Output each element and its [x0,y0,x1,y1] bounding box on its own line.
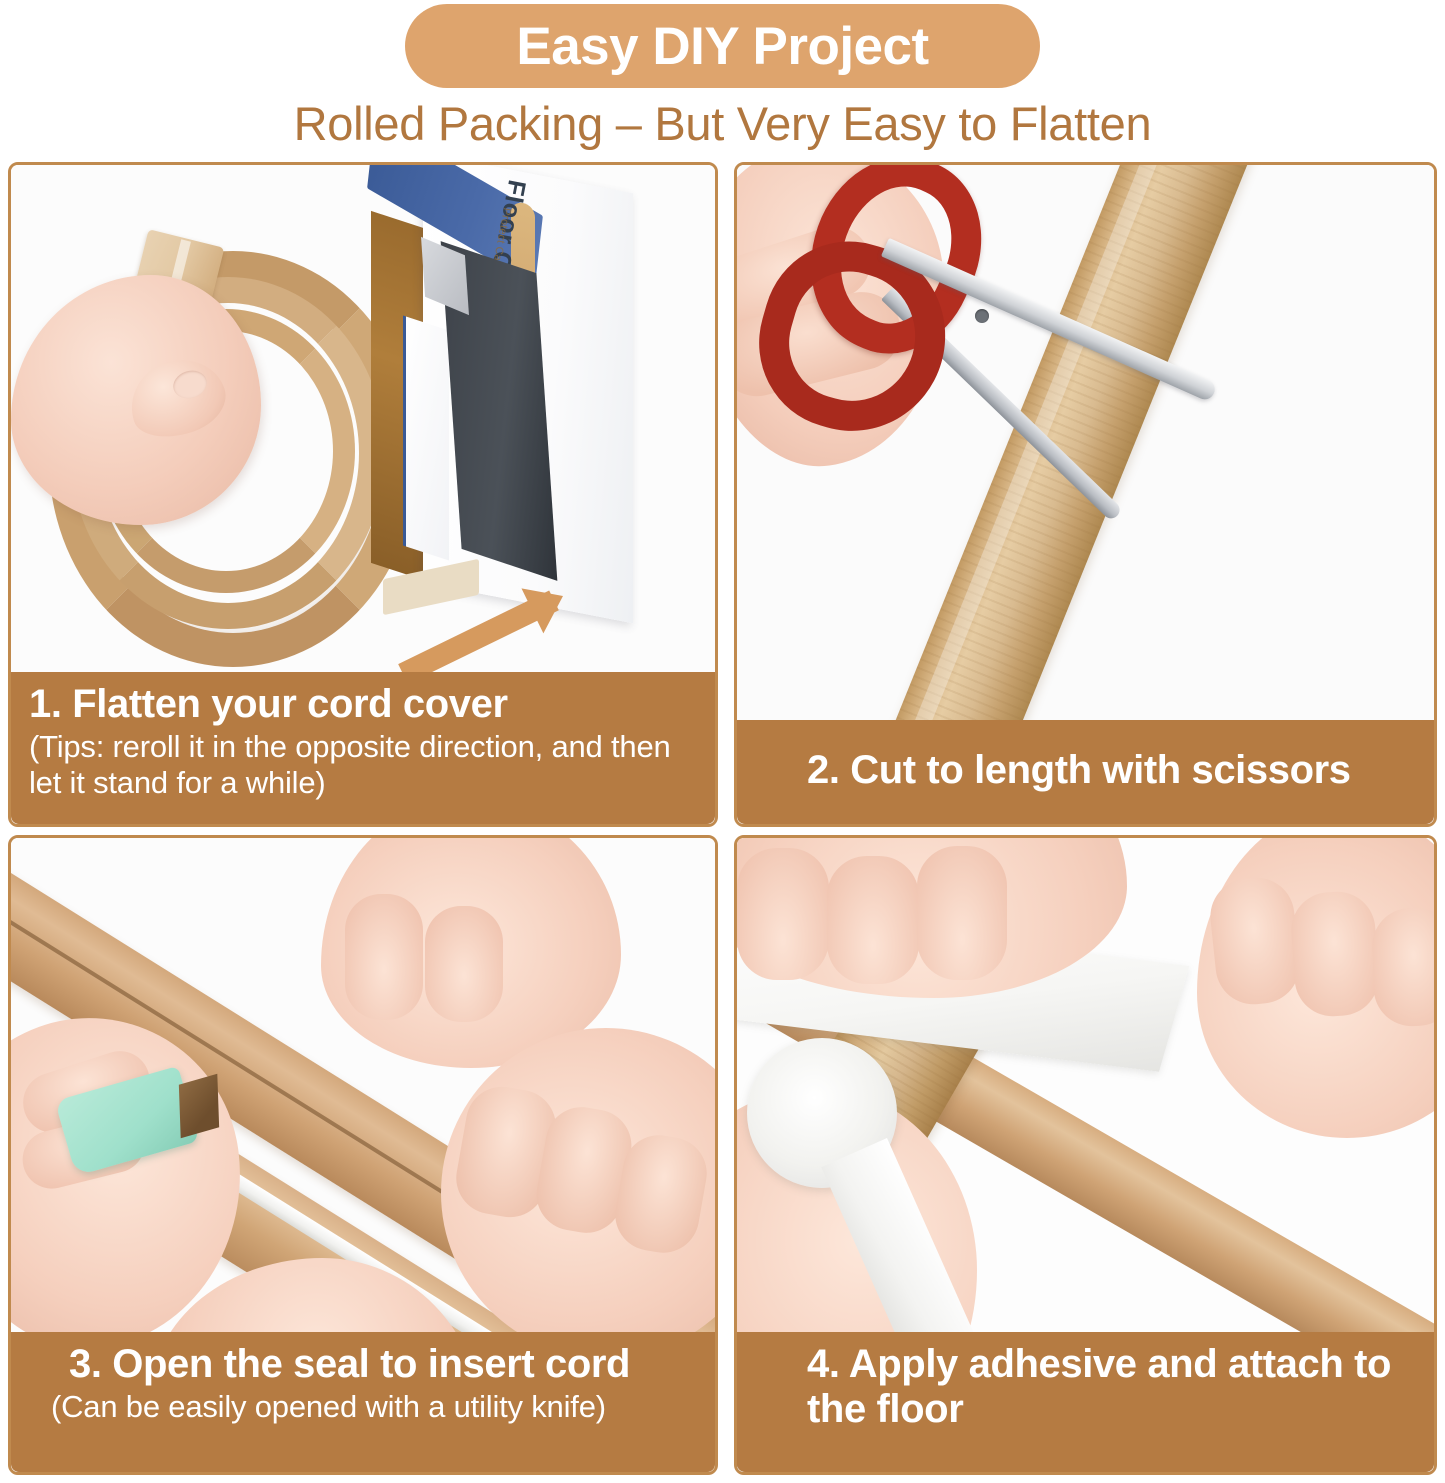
steps-grid: Floor Cord Cover Protect Cables & Preven… [0,162,1445,1483]
step-1-subtitle: (Tips: reroll it in the opposite directi… [29,729,697,802]
header: Easy DIY Project Rolled Packing – But Ve… [0,0,1445,162]
step-3-title: 3. Open the seal to insert cord [29,1342,697,1387]
title-badge: Easy DIY Project [405,4,1040,88]
step-panel-1-frame: Floor Cord Cover Protect Cables & Preven… [8,162,718,827]
scissors-pivot-icon [975,309,989,323]
page-title: Easy DIY Project [516,20,928,73]
step-panel-2: 2. Cut to length with scissors [726,162,1445,835]
step-1-title: 1. Flatten your cord cover [29,682,697,727]
utility-knife-blade-icon [179,1074,219,1139]
step-4-title: 4. Apply adhesive and attach to the floo… [755,1342,1416,1432]
product-box: Floor Cord Cover Protect Cables & Preven… [363,173,663,603]
step-4-caption: 4. Apply adhesive and attach to the floo… [737,1332,1434,1472]
step-3-subtitle: (Can be easily opened with a utility kni… [29,1389,697,1426]
step-panel-3: 3. Open the seal to insert cord (Can be … [0,835,726,1483]
step-1-caption: 1. Flatten your cord cover (Tips: reroll… [11,672,715,824]
step-panel-3-frame: 3. Open the seal to insert cord (Can be … [8,835,718,1475]
step-2-caption: 2. Cut to length with scissors [737,720,1434,824]
page-subtitle: Rolled Packing – But Very Easy to Flatte… [0,96,1445,151]
step-panel-2-frame: 2. Cut to length with scissors [734,162,1437,827]
step-2-title: 2. Cut to length with scissors [755,748,1351,793]
step-panel-4-frame: 4. Apply adhesive and attach to the floo… [734,835,1437,1475]
step-panel-1: Floor Cord Cover Protect Cables & Preven… [0,162,726,835]
step-panel-4: 4. Apply adhesive and attach to the floo… [726,835,1445,1483]
step-3-caption: 3. Open the seal to insert cord (Can be … [11,1332,715,1472]
